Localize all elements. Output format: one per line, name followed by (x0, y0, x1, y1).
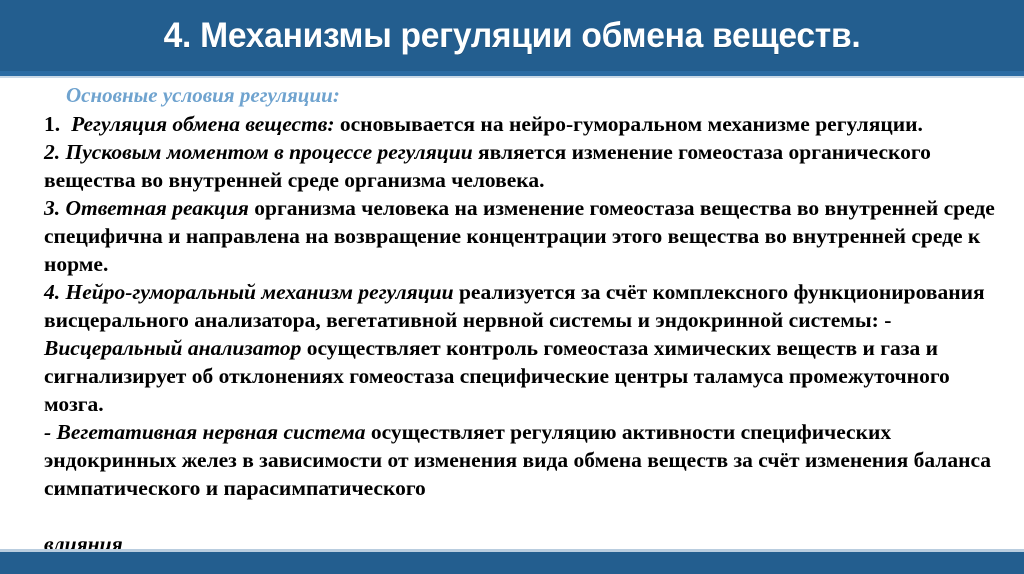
item-number: 3. (44, 196, 60, 220)
slide-footer-band (0, 552, 1024, 574)
list-item: 4. Нейро-гуморальный механизм регуляции … (44, 278, 1009, 418)
item-emphasis: Регуляция обмена веществ: (71, 112, 334, 136)
page-title: 4. Механизмы регуляции обмена веществ. (20, 0, 1003, 71)
item-emphasis: Пусковым моментом в процессе регуляции (66, 140, 473, 164)
list-item: 3. Ответная реакция организма человека н… (44, 194, 1009, 278)
header-bottom-rule-light (0, 76, 1024, 78)
item-text: основывается на нейро-гуморальном механи… (334, 112, 922, 136)
slide-canvas: 4. Механизмы регуляции обмена веществ. О… (0, 0, 1024, 574)
list-item: 1.Регуляция обмена веществ: основывается… (44, 110, 1009, 138)
list-item: - Вегетативная нервная система осуществл… (44, 418, 1009, 502)
item-emphasis: Нейро-гуморальный механизм регуляции (66, 280, 454, 304)
list-item: 2. Пусковым моментом в процессе регуляци… (44, 138, 1009, 194)
body-subtitle: Основные условия регуляции: (44, 83, 1009, 108)
item-emphasis-secondary: Висцеральный анализатор (44, 336, 301, 360)
item-emphasis: Ответная реакция (66, 196, 249, 220)
item-number: 1. (44, 112, 60, 136)
item-emphasis: Вегетативная нервная система (51, 420, 365, 444)
slide-body: Основные условия регуляции: 1.Регуляция … (44, 83, 1009, 502)
item-number: 4. (44, 280, 60, 304)
item-number: 2. (44, 140, 60, 164)
